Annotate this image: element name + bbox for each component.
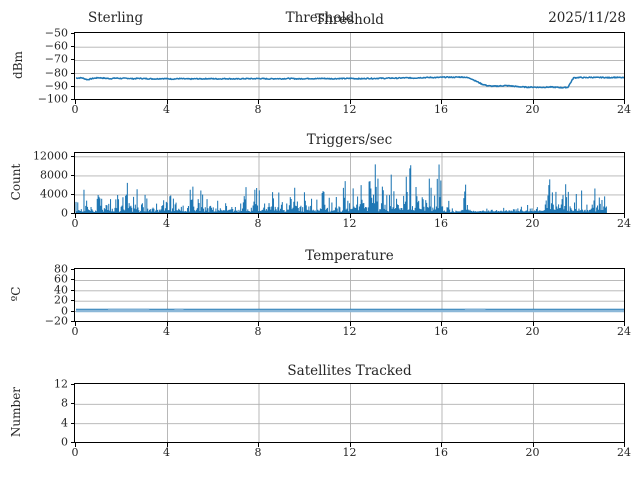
x-tick-mark	[258, 100, 259, 104]
x-tick-mark	[350, 214, 351, 218]
y-tick-label: −90	[45, 80, 68, 91]
x-tick-label: 8	[255, 104, 262, 116]
x-tick-mark	[441, 100, 442, 104]
y-tick-label: −70	[45, 54, 68, 65]
x-tick-label: 20	[526, 104, 540, 116]
y-axis-label: ºC	[9, 249, 23, 339]
y-tick-label: 0	[61, 437, 68, 448]
y-tick-mark	[71, 403, 75, 404]
y-tick-label: 4	[61, 417, 68, 428]
x-tick-label: 24	[617, 447, 631, 459]
x-tick-mark	[624, 100, 625, 104]
panel-triggers-axes	[74, 152, 625, 214]
y-tick-label: 8	[61, 398, 68, 409]
x-tick-mark	[533, 322, 534, 326]
y-tick-mark	[71, 175, 75, 176]
x-tick-label: 20	[526, 218, 540, 230]
x-tick-label: 24	[617, 218, 631, 230]
x-tick-mark	[167, 214, 168, 218]
x-tick-label: 8	[255, 218, 262, 230]
x-tick-label: 0	[72, 104, 79, 116]
x-tick-label: 4	[163, 326, 170, 338]
y-tick-label: −50	[45, 28, 68, 39]
y-tick-label: 4000	[40, 188, 68, 199]
x-tick-label: 0	[72, 447, 79, 459]
y-tick-mark	[71, 311, 75, 312]
x-tick-label: 8	[255, 326, 262, 338]
x-tick-label: 0	[72, 326, 79, 338]
y-tick-mark	[71, 269, 75, 270]
x-tick-mark	[258, 214, 259, 218]
y-axis-label: Number	[9, 367, 23, 457]
y-tick-mark	[71, 442, 75, 443]
x-tick-mark	[167, 322, 168, 326]
y-tick-mark	[71, 46, 75, 47]
x-tick-label: 4	[163, 104, 170, 116]
y-tick-mark	[71, 384, 75, 385]
y-tick-label: −60	[45, 41, 68, 52]
x-tick-label: 0	[72, 218, 79, 230]
y-tick-mark	[71, 99, 75, 100]
x-tick-mark	[75, 322, 76, 326]
x-tick-mark	[533, 443, 534, 447]
y-tick-mark	[71, 59, 75, 60]
x-tick-mark	[350, 443, 351, 447]
y-axis-label: dBm	[11, 20, 25, 110]
x-tick-mark	[75, 100, 76, 104]
x-tick-label: 24	[617, 104, 631, 116]
x-tick-mark	[167, 443, 168, 447]
x-tick-label: 12	[343, 218, 357, 230]
y-tick-mark	[71, 156, 75, 157]
y-tick-label: −80	[45, 67, 68, 78]
panel-triggers-title: Triggers/sec	[74, 132, 625, 148]
panel-temperature-title: Temperature	[74, 248, 625, 264]
y-tick-mark	[71, 194, 75, 195]
y-tick-mark	[71, 300, 75, 301]
y-tick-label: 8000	[40, 169, 68, 180]
x-tick-mark	[75, 443, 76, 447]
panel-satellites-axes	[74, 383, 625, 443]
y-tick-mark	[71, 290, 75, 291]
x-tick-label: 20	[526, 447, 540, 459]
x-tick-mark	[167, 100, 168, 104]
y-axis-label: Count	[9, 137, 23, 227]
x-tick-mark	[75, 214, 76, 218]
x-tick-label: 12	[343, 447, 357, 459]
y-tick-mark	[71, 213, 75, 214]
x-tick-mark	[441, 322, 442, 326]
panel-temperature-axes	[74, 268, 625, 322]
x-tick-label: 4	[163, 218, 170, 230]
y-tick-label: 12000	[33, 150, 68, 161]
x-tick-label: 16	[434, 447, 448, 459]
y-tick-mark	[71, 321, 75, 322]
y-tick-mark	[71, 73, 75, 74]
x-tick-label: 20	[526, 326, 540, 338]
y-tick-mark	[71, 86, 75, 87]
x-tick-mark	[624, 214, 625, 218]
panel-threshold-axes	[74, 32, 625, 100]
panel-threshold-title: Threshold	[74, 12, 625, 28]
y-tick-mark	[71, 279, 75, 280]
panel-satellites-title: Satellites Tracked	[74, 363, 625, 379]
y-tick-label: −100	[38, 94, 68, 105]
x-tick-label: 4	[163, 447, 170, 459]
x-tick-mark	[350, 100, 351, 104]
x-tick-label: 16	[434, 218, 448, 230]
y-tick-label: −20	[45, 316, 68, 327]
y-tick-label: 12	[54, 379, 68, 390]
x-tick-label: 16	[434, 326, 448, 338]
x-tick-mark	[533, 214, 534, 218]
x-tick-mark	[624, 322, 625, 326]
x-tick-mark	[258, 322, 259, 326]
x-tick-mark	[350, 322, 351, 326]
x-tick-label: 16	[434, 104, 448, 116]
x-tick-label: 12	[343, 326, 357, 338]
y-tick-label: 0	[61, 208, 68, 219]
figure: Sterling Threshold 2025/11/28 Threshold …	[0, 0, 640, 480]
x-tick-mark	[441, 443, 442, 447]
y-tick-mark	[71, 423, 75, 424]
x-tick-mark	[533, 100, 534, 104]
x-tick-mark	[624, 443, 625, 447]
x-tick-mark	[258, 443, 259, 447]
x-tick-label: 8	[255, 447, 262, 459]
x-tick-label: 12	[343, 104, 357, 116]
x-tick-mark	[441, 214, 442, 218]
y-tick-mark	[71, 33, 75, 34]
x-tick-label: 24	[617, 326, 631, 338]
